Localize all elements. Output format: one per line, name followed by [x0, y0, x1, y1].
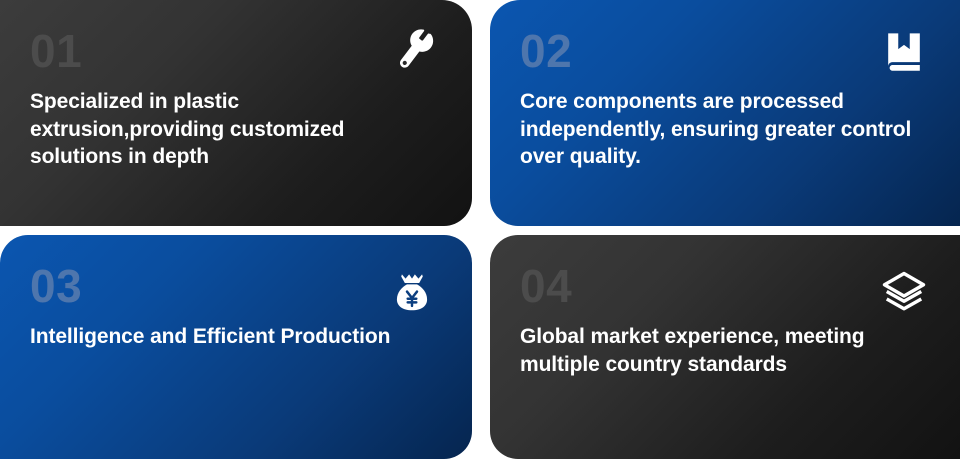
feature-card-01[interactable]: 01 Specialized in plastic extrusion,prov…	[0, 0, 472, 226]
card-number-03: 03	[30, 263, 442, 309]
layers-stack-icon	[878, 267, 930, 319]
feature-card-grid: 01 Specialized in plastic extrusion,prov…	[0, 0, 960, 459]
book-bookmark-icon	[878, 26, 930, 78]
card-text-02: Core components are processed independen…	[520, 88, 930, 171]
card-text-04: Global market experience, meeting multip…	[520, 323, 930, 378]
card-text-03: Intelligence and Efficient Production	[30, 323, 435, 351]
card-text-01: Specialized in plastic extrusion,providi…	[30, 88, 435, 171]
card-number-02: 02	[520, 28, 930, 74]
card-number-04: 04	[520, 263, 930, 309]
wrench-icon	[390, 26, 442, 78]
feature-card-02[interactable]: 02 Core components are processed indepen…	[490, 0, 960, 226]
money-bag-yen-icon	[386, 267, 438, 319]
feature-card-03[interactable]: 03 Intelligence and Efficient Production	[0, 235, 472, 459]
card-number-01: 01	[30, 28, 442, 74]
feature-card-04[interactable]: 04 Global market experience, meeting mul…	[490, 235, 960, 459]
